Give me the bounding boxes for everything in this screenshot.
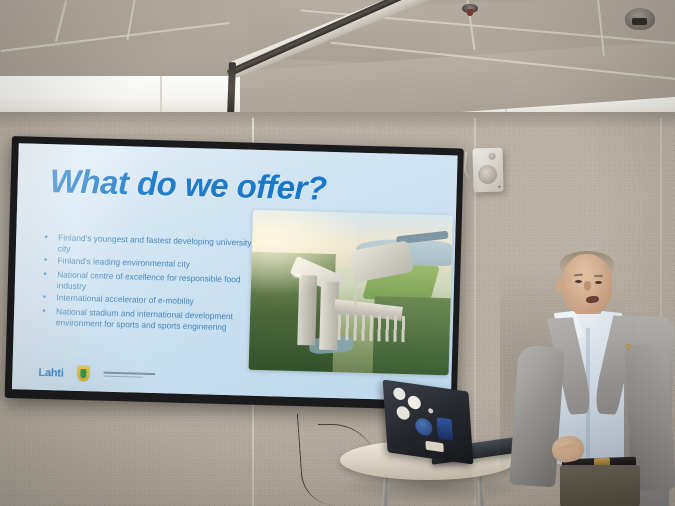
jacket-sleeve-left [509, 345, 565, 488]
ear [556, 279, 564, 292]
eye [595, 281, 602, 284]
slide-title: What do we offer? [49, 162, 327, 208]
sprinkler-icon [462, 4, 478, 13]
laptop-sticker [393, 387, 406, 401]
bullet-icon: • [42, 232, 51, 253]
slide-photo [249, 210, 453, 376]
laptop-sticker [415, 417, 433, 437]
laptop-sticker [396, 405, 410, 420]
ceiling-sensor-icon [625, 8, 655, 30]
bullet-icon: • [41, 255, 49, 267]
wall-speaker-icon [472, 148, 503, 193]
slide-footer: Lahti [38, 365, 156, 383]
laptop-sticker [407, 395, 421, 410]
bullet-label: National stadium and international devel… [56, 307, 259, 334]
bullet-label: National centre of excellence for respon… [57, 270, 260, 297]
ceiling-panel [0, 0, 250, 76]
lapel-pin-icon [626, 344, 631, 349]
presentation-room-photo: What do we offer? • Finland's youngest a… [0, 0, 675, 506]
lahti-logo: Lahti [38, 366, 64, 379]
presenter [506, 248, 675, 506]
slide-bullet-list: • Finland's youngest and fastest develop… [40, 232, 261, 336]
window-mullion [160, 72, 162, 114]
eyebrow [594, 275, 603, 277]
wall-display[interactable]: What do we offer? • Finland's youngest a… [5, 136, 464, 411]
laptop-sticker [428, 408, 433, 414]
eye [575, 280, 582, 283]
speaker-woofer [478, 165, 497, 184]
bullet-label: Finland's youngest and fastest developin… [58, 232, 261, 259]
display-screen: What do we offer? • Finland's youngest a… [12, 143, 458, 401]
laptop-lid[interactable] [383, 379, 474, 464]
laptop-sticker [437, 417, 453, 440]
trousers [560, 465, 640, 506]
bullet-icon: • [40, 306, 49, 327]
bullet-label: International accelerator of e-mobility [56, 293, 194, 309]
photo-piers [337, 315, 406, 342]
speaker-tweeter [489, 153, 496, 160]
photo-sun-glow [249, 210, 364, 299]
coat-of-arms-icon [77, 366, 89, 381]
bullet-icon: • [40, 292, 48, 304]
bullet-icon: • [41, 269, 50, 290]
nose [584, 281, 591, 291]
wall-top-shadow [0, 112, 675, 130]
presentation-slide: What do we offer? • Finland's youngest a… [12, 143, 458, 401]
speaker-led [498, 186, 500, 188]
list-item: • National stadium and international dev… [40, 306, 259, 333]
university-wordmark [104, 372, 156, 378]
bullet-label: Finland's leading environmental city [57, 256, 190, 272]
laptop-sticker [425, 441, 444, 453]
